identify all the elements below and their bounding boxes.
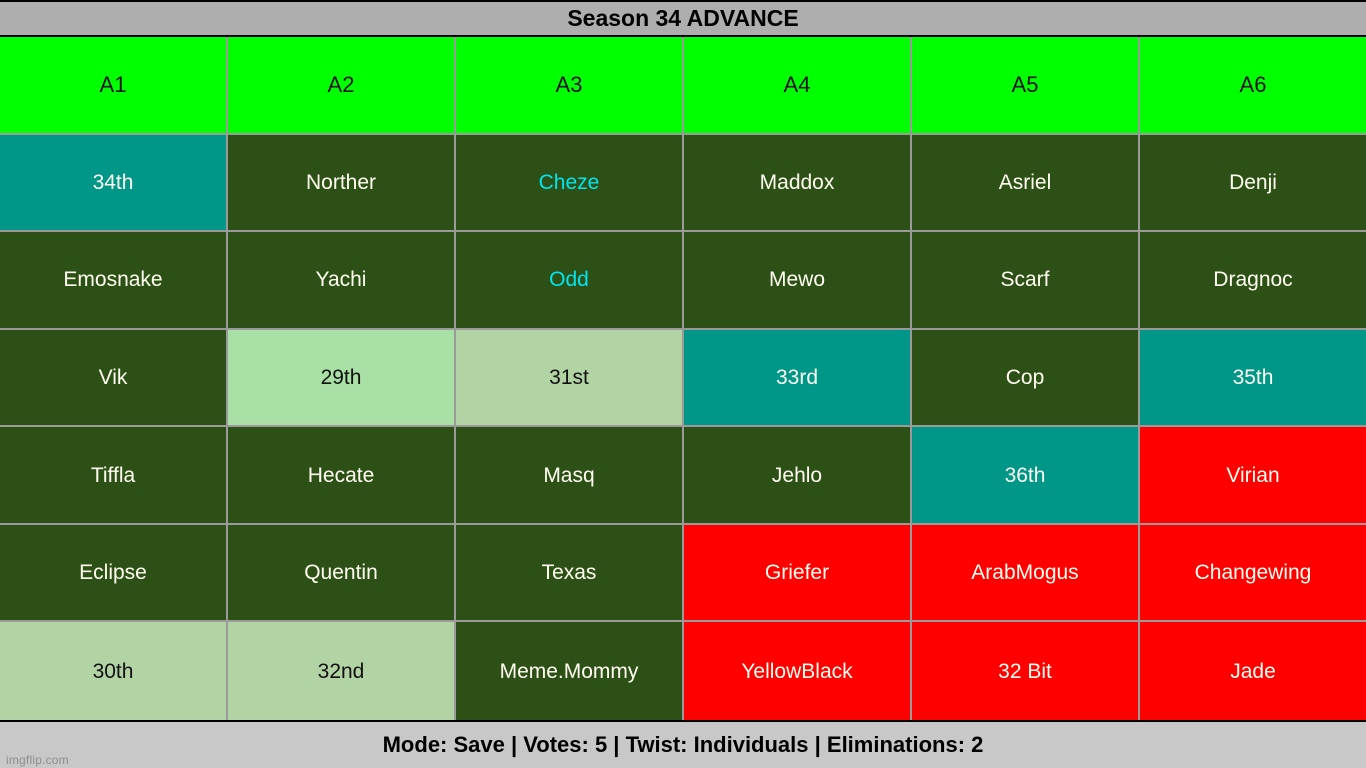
grid-cell[interactable]: Vik (0, 330, 228, 428)
grid-cell[interactable]: Jade (1140, 622, 1366, 720)
grid-cell[interactable]: 29th (228, 330, 456, 428)
column-header-a3[interactable]: A3 (456, 37, 684, 135)
grid-cell[interactable]: Masq (456, 427, 684, 525)
column-header-a2[interactable]: A2 (228, 37, 456, 135)
grid-cell[interactable]: Yachi (228, 232, 456, 330)
grid-cell[interactable]: Griefer (684, 525, 912, 623)
grid-cell[interactable]: Asriel (912, 135, 1140, 233)
title-bar: Season 34 ADVANCE (0, 0, 1366, 37)
grid-cell[interactable]: Virian (1140, 427, 1366, 525)
column-header-a5[interactable]: A5 (912, 37, 1140, 135)
grid-cell[interactable]: 34th (0, 135, 228, 233)
grid-cell[interactable]: Changewing (1140, 525, 1366, 623)
grid-cell[interactable]: 32 Bit (912, 622, 1140, 720)
grid-row: 34thNortherChezeMaddoxAsrielDenji (0, 135, 1366, 233)
grid-row: TifflaHecateMasqJehlo36thVirian (0, 427, 1366, 525)
column-header-row: A1A2A3A4A5A6 (0, 37, 1366, 135)
grid-cell[interactable]: Odd (456, 232, 684, 330)
roster-grid: A1A2A3A4A5A634thNortherChezeMaddoxAsriel… (0, 37, 1366, 720)
grid-cell[interactable]: 36th (912, 427, 1140, 525)
column-header-a4[interactable]: A4 (684, 37, 912, 135)
page-title: Season 34 ADVANCE (567, 5, 798, 32)
grid-cell[interactable]: Norther (228, 135, 456, 233)
bracket-screen: Season 34 ADVANCE A1A2A3A4A5A634thNorthe… (0, 0, 1366, 768)
grid-row: EclipseQuentinTexasGrieferArabMogusChang… (0, 525, 1366, 623)
grid-cell[interactable]: Meme.Mommy (456, 622, 684, 720)
grid-cell[interactable]: Denji (1140, 135, 1366, 233)
grid-cell[interactable]: Texas (456, 525, 684, 623)
grid-cell[interactable]: 35th (1140, 330, 1366, 428)
grid-cell[interactable]: Eclipse (0, 525, 228, 623)
grid-row: 30th32ndMeme.MommyYellowBlack32 BitJade (0, 622, 1366, 720)
grid-cell[interactable]: 33rd (684, 330, 912, 428)
grid-cell[interactable]: 30th (0, 622, 228, 720)
imgflip-watermark: imgflip.com (6, 753, 69, 767)
grid-cell[interactable]: ArabMogus (912, 525, 1140, 623)
grid-cell[interactable]: Dragnoc (1140, 232, 1366, 330)
grid-row: Vik29th31st33rdCop35th (0, 330, 1366, 428)
footer-bar: Mode: Save | Votes: 5 | Twist: Individua… (0, 720, 1366, 768)
grid-cell[interactable]: Jehlo (684, 427, 912, 525)
column-header-a6[interactable]: A6 (1140, 37, 1366, 135)
grid-cell[interactable]: Tiffla (0, 427, 228, 525)
grid-cell[interactable]: Scarf (912, 232, 1140, 330)
grid-cell[interactable]: YellowBlack (684, 622, 912, 720)
grid-cell[interactable]: Maddox (684, 135, 912, 233)
grid-cell[interactable]: 31st (456, 330, 684, 428)
grid-cell[interactable]: Mewo (684, 232, 912, 330)
grid-cell[interactable]: Emosnake (0, 232, 228, 330)
grid-cell[interactable]: 32nd (228, 622, 456, 720)
grid-cell[interactable]: Cop (912, 330, 1140, 428)
grid-cell[interactable]: Cheze (456, 135, 684, 233)
grid-cell[interactable]: Hecate (228, 427, 456, 525)
column-header-a1[interactable]: A1 (0, 37, 228, 135)
grid-cell[interactable]: Quentin (228, 525, 456, 623)
game-settings-text: Mode: Save | Votes: 5 | Twist: Individua… (383, 732, 984, 758)
grid-row: EmosnakeYachiOddMewoScarfDragnoc (0, 232, 1366, 330)
